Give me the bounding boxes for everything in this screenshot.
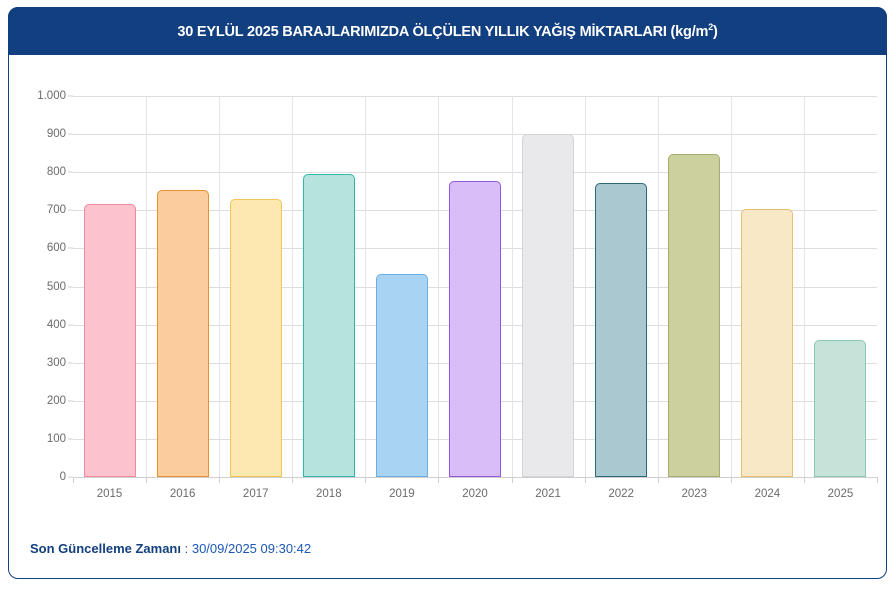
chart-area: 01002003004005006007008009001.000 201520… — [15, 64, 881, 509]
y-tick-label: 800 — [47, 166, 66, 178]
bar-slot-2022[interactable] — [585, 96, 658, 477]
x-tick-label-2021: 2021 — [535, 488, 561, 500]
bar-slot-2019[interactable] — [365, 96, 438, 477]
last-update-label: Son Güncelleme Zamanı — [30, 541, 181, 556]
x-tick-label-2023: 2023 — [681, 488, 707, 500]
bar-2022[interactable] — [595, 183, 647, 477]
x-tick-label-2016: 2016 — [170, 488, 196, 500]
bar-2016[interactable] — [157, 190, 209, 477]
bar-slot-2016[interactable] — [146, 96, 219, 477]
x-tick-mark — [73, 477, 74, 483]
bar-slot-2017[interactable] — [219, 96, 292, 477]
chart-card: 30 EYLÜL 2025 BARAJLARIMIZDA ÖLÇÜLEN YIL… — [8, 7, 887, 579]
plot-region: 01002003004005006007008009001.000 201520… — [73, 96, 877, 477]
x-tick-mark — [585, 477, 586, 483]
x-tick-mark — [146, 477, 147, 483]
bar-slot-2021[interactable] — [512, 96, 585, 477]
x-tick-label-2022: 2022 — [608, 488, 634, 500]
page-title-tail: ) — [713, 24, 718, 40]
x-tick-mark — [658, 477, 659, 483]
x-tick-label-2024: 2024 — [755, 488, 781, 500]
bar-slot-2018[interactable] — [292, 96, 365, 477]
y-tick-label: 700 — [47, 204, 66, 216]
bar-2017[interactable] — [230, 199, 282, 478]
x-tick-label-2020: 2020 — [462, 488, 488, 500]
bar-2018[interactable] — [303, 174, 355, 477]
x-tick-label-2015: 2015 — [97, 488, 123, 500]
y-tick-label: 400 — [47, 319, 66, 331]
y-tick-label: 600 — [47, 242, 66, 254]
bar-2015[interactable] — [84, 204, 136, 477]
bar-slot-2025[interactable] — [804, 96, 877, 477]
bar-slot-2023[interactable] — [658, 96, 731, 477]
last-update-value: 30/09/2025 09:30:42 — [192, 541, 311, 556]
bar-2023[interactable] — [668, 154, 720, 477]
x-tick-mark — [292, 477, 293, 483]
bar-series — [73, 96, 877, 477]
y-tick-label: 1.000 — [37, 90, 66, 102]
y-tick-label: 0 — [60, 471, 66, 483]
bar-2024[interactable] — [741, 209, 793, 477]
y-tick-label: 100 — [47, 433, 66, 445]
y-tick-label: 900 — [47, 128, 66, 140]
last-update-footer: Son Güncelleme Zamanı : 30/09/2025 09:30… — [30, 541, 311, 556]
screenshot-root: 30 EYLÜL 2025 BARAJLARIMIZDA ÖLÇÜLEN YIL… — [0, 0, 895, 589]
y-tick-label: 500 — [47, 281, 66, 293]
y-tick-label: 300 — [47, 357, 66, 369]
x-tick-label-2025: 2025 — [828, 488, 854, 500]
bar-2020[interactable] — [449, 181, 501, 477]
x-tick-label-2017: 2017 — [243, 488, 269, 500]
page-title-main: 30 EYLÜL 2025 BARAJLARIMIZDA ÖLÇÜLEN YIL… — [177, 24, 708, 40]
x-tick-mark — [804, 477, 805, 483]
bar-2021[interactable] — [522, 134, 574, 477]
bar-2025[interactable] — [814, 340, 866, 477]
last-update-separator: : — [181, 541, 192, 556]
y-tick-label: 200 — [47, 395, 66, 407]
x-tick-mark — [219, 477, 220, 483]
x-tick-label-2019: 2019 — [389, 488, 415, 500]
bar-slot-2024[interactable] — [731, 96, 804, 477]
card-header: 30 EYLÜL 2025 BARAJLARIMIZDA ÖLÇÜLEN YIL… — [8, 7, 887, 55]
x-tick-mark — [438, 477, 439, 483]
bar-slot-2015[interactable] — [73, 96, 146, 477]
gridline — [73, 477, 877, 478]
x-tick-label-2018: 2018 — [316, 488, 342, 500]
x-tick-mark — [512, 477, 513, 483]
bar-slot-2020[interactable] — [438, 96, 511, 477]
page-title: 30 EYLÜL 2025 BARAJLARIMIZDA ÖLÇÜLEN YIL… — [177, 22, 717, 40]
x-tick-mark — [731, 477, 732, 483]
x-tick-mark — [877, 477, 878, 483]
bar-2019[interactable] — [376, 274, 428, 477]
x-tick-mark — [365, 477, 366, 483]
